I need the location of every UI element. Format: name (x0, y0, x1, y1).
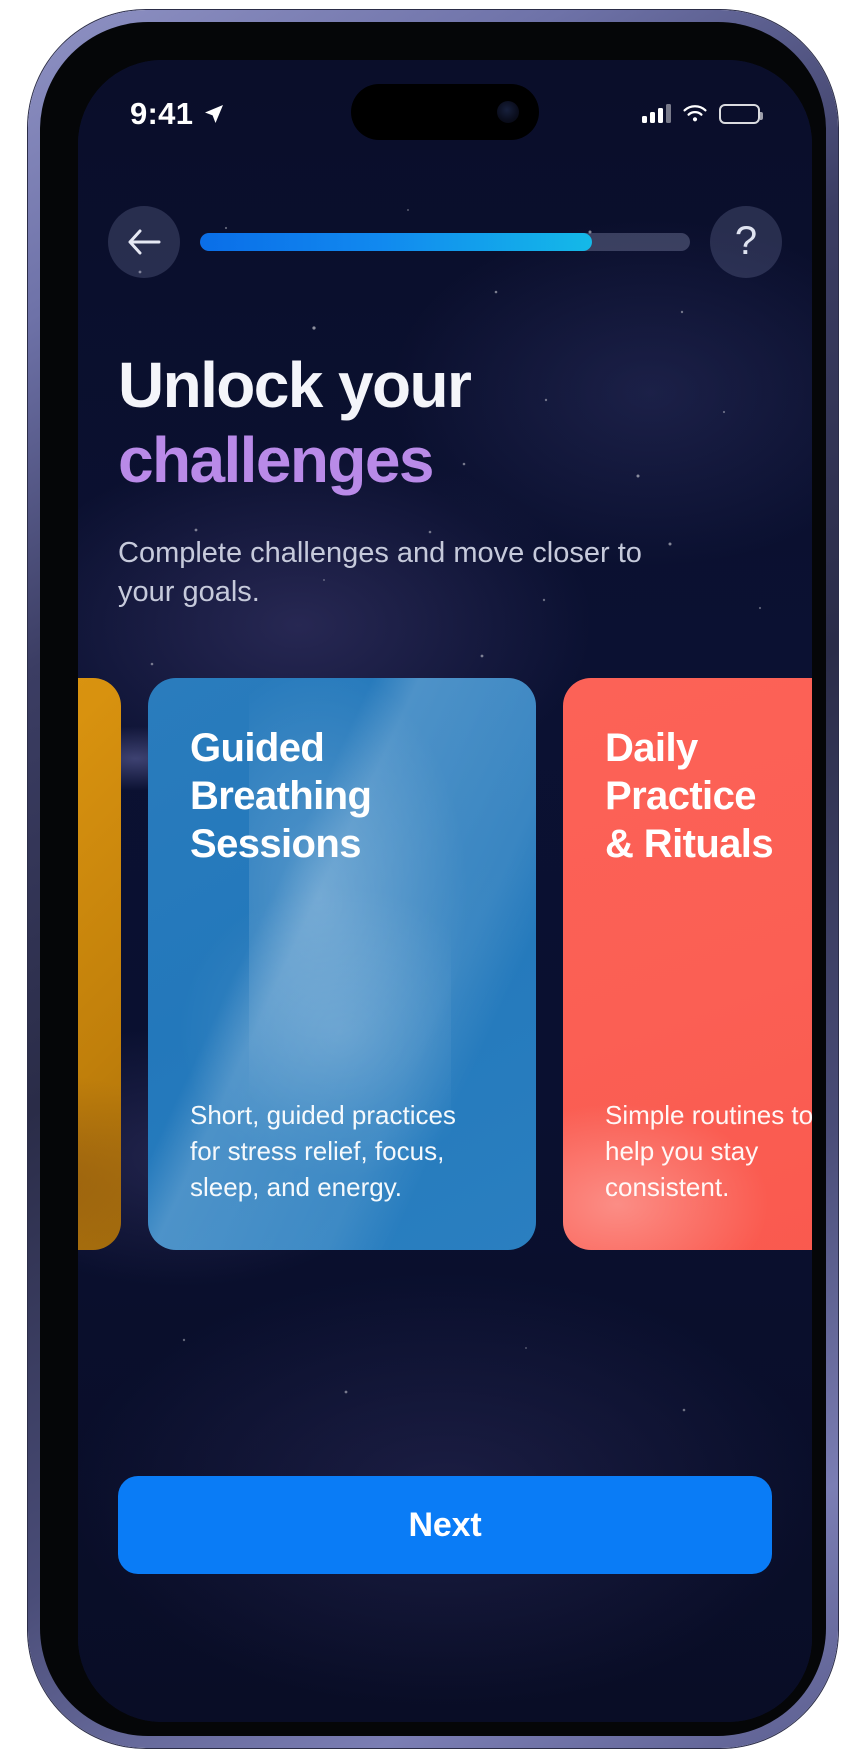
phone-device-frame: 9:41 (28, 10, 838, 1748)
progress-bar-fill (200, 233, 592, 251)
page-title: Unlock your challenges (118, 348, 772, 498)
device-bezel: 9:41 (40, 22, 826, 1736)
next-button[interactable]: Next (118, 1476, 772, 1574)
card-title: Guided Breathing Sessions (190, 724, 494, 868)
challenge-card-personalized-sessions[interactable]: Personalized Sessions Tailored sessions … (78, 678, 121, 1250)
challenge-card-daily-practice-rituals[interactable]: Daily Practice & Rituals Simple routines… (563, 678, 812, 1250)
card-description: Simple routines to help you stay consist… (605, 1098, 812, 1206)
challenge-card-carousel[interactable]: Personalized Sessions Tailored sessions … (78, 678, 812, 1278)
arrow-left-icon (126, 227, 162, 257)
card-header: Guided Breathing Sessions (190, 724, 494, 868)
phone-screen: 9:41 (78, 60, 812, 1722)
card-artwork (78, 678, 121, 1250)
signal-bars-icon (642, 105, 671, 123)
next-button-label: Next (409, 1506, 482, 1545)
card-header: Personalized Sessions (78, 724, 79, 820)
challenge-card-guided-breathing-sessions[interactable]: Guided Breathing Sessions Short, guided … (148, 678, 536, 1250)
card-title: Daily Practice & Rituals (605, 724, 812, 868)
card-description: Tailored sessions to match your needs an… (78, 1063, 79, 1207)
onboarding-progress-bar[interactable] (200, 233, 690, 251)
card-header: Daily Practice & Rituals (605, 724, 812, 868)
card-footer: Simple routines to help you stay consist… (605, 1098, 812, 1206)
card-title: Personalized Sessions (78, 724, 79, 820)
front-camera-icon (497, 101, 519, 123)
dynamic-island (351, 84, 539, 140)
headline-block: Unlock your challenges Complete challeng… (118, 348, 772, 613)
status-time: 9:41 (130, 96, 193, 132)
headline-line-1: Unlock your (118, 348, 772, 423)
page-subtitle: Complete challenges and move closer to y… (118, 534, 678, 613)
wifi-icon (682, 104, 708, 124)
top-navigation-bar: ? (78, 200, 812, 284)
battery-icon (719, 104, 760, 124)
back-button[interactable] (108, 206, 180, 278)
location-arrow-icon (202, 102, 226, 126)
card-description: Short, guided practices for stress relie… (190, 1098, 494, 1206)
status-bar-left: 9:41 (130, 96, 226, 132)
card-footer: Short, guided practices for stress relie… (190, 1098, 494, 1206)
help-button[interactable]: ? (710, 206, 782, 278)
status-bar-right (642, 104, 760, 124)
card-footer: Tailored sessions to match your needs an… (78, 1063, 79, 1207)
question-mark-icon: ? (735, 221, 757, 261)
headline-line-2: challenges (118, 423, 772, 498)
